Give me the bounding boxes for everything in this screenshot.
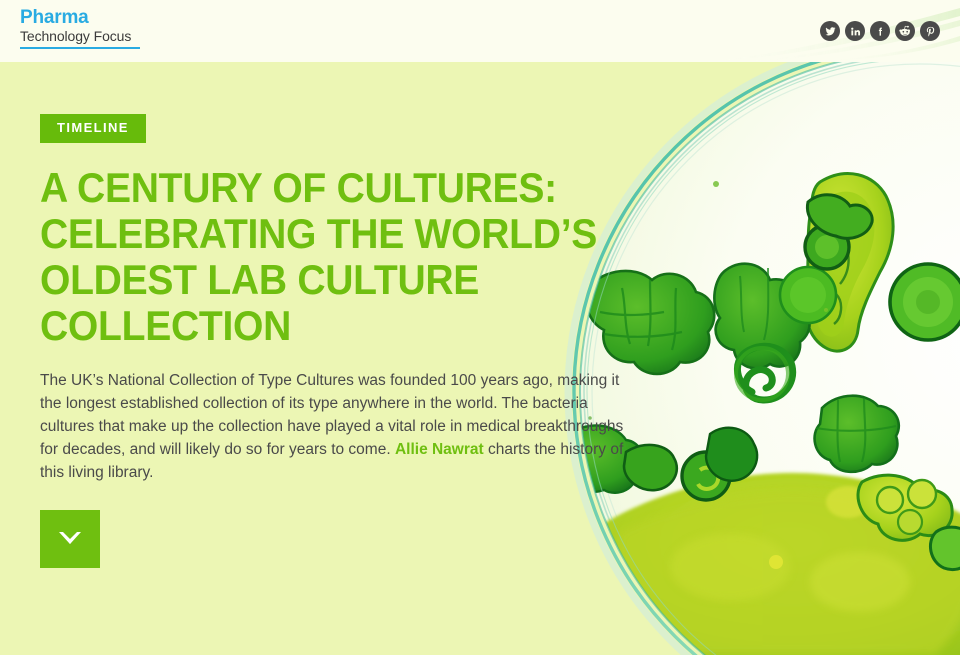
category-badge[interactable]: TIMELINE <box>40 114 146 143</box>
reddit-icon[interactable] <box>895 21 915 41</box>
chevron-down-icon <box>57 530 83 548</box>
site-header: Pharma Technology Focus <box>0 0 960 62</box>
author-byline-link[interactable]: Allie Nawrat <box>395 441 484 458</box>
linkedin-icon[interactable] <box>845 21 865 41</box>
brand-name-secondary: Technology Focus <box>20 28 250 45</box>
pinterest-icon[interactable] <box>920 21 940 41</box>
hero-standfirst: The UK’s National Collection of Type Cul… <box>40 369 640 484</box>
facebook-icon[interactable] <box>870 21 890 41</box>
twitter-icon[interactable] <box>820 21 840 41</box>
page-title: A century of cultures: Celebrating the w… <box>40 165 598 349</box>
hero-section: TIMELINE A century of cultures: Celebrat… <box>0 62 960 655</box>
hero-content: TIMELINE A century of cultures: Celebrat… <box>40 62 640 568</box>
brand-name-primary: Pharma <box>20 8 250 28</box>
scroll-down-button[interactable] <box>40 510 100 568</box>
site-logo[interactable]: Pharma Technology Focus <box>20 8 250 49</box>
social-share-bar <box>820 21 940 41</box>
brand-underline <box>20 47 140 49</box>
page-root: Pharma Technology Focus <box>0 0 960 655</box>
